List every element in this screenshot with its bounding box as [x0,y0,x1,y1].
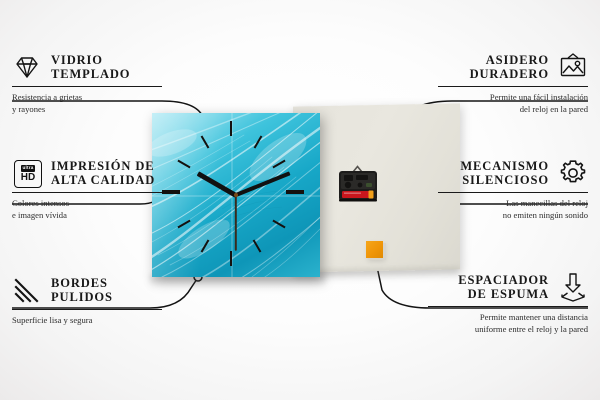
feature-desc-line1: Permite mantener una distancia [428,311,588,323]
feature-rule [438,86,588,87]
feature-desc: Permite una fácil instalación del reloj … [438,91,588,115]
feature-desc-line2: y rayones [12,103,162,115]
feature-title-line2: TEMPLADO [51,67,130,81]
clock-pivot [234,193,238,197]
feature-title-line2: ALTA CALIDAD [51,173,155,187]
feature-title-line2: SILENCIOSO [460,173,549,187]
feature-title-line2: DURADERO [470,67,549,81]
feature-desc-line1: Las manecillas del reloj [438,197,588,209]
quartz-mechanism [336,163,380,203]
feature-desc-line2: e imagen vívida [12,209,162,221]
tick-6 [230,251,232,266]
diamond-icon [12,52,42,82]
gear-icon [558,158,588,188]
feature-desc-line1: Resistencia a grietas [12,91,162,103]
feature-title-line1: MECANISMO [460,159,549,173]
feature-mecanismo-silencioso: MECANISMO SILENCIOSO Las manecillas del … [438,158,588,221]
feature-vidrio-templado: VIDRIO TEMPLADO Resistencia a grietas y … [12,52,162,115]
feature-desc-line2: del reloj en la pared [438,103,588,115]
feature-rule [12,86,162,87]
feature-desc-line2: no emiten ningún sonido [438,209,588,221]
tick-9 [162,190,180,194]
battery [342,191,372,198]
feature-desc: Las manecillas del reloj no emiten ningú… [438,197,588,221]
clock-face [152,113,320,277]
feature-desc: Colores intensos e imagen vívida [12,197,162,221]
polished-edge-lines-icon [12,275,42,305]
feature-title-line1: VIDRIO [51,53,130,67]
feature-desc: Superficie lisa y segura [12,314,162,326]
hd-badge-bottom: HD [21,173,35,183]
feature-espaciador-de-espuma: ESPACIADOR DE ESPUMA Permite mantener un… [428,272,588,335]
picture-hanger-icon [558,52,588,82]
feature-title-line2: DE ESPUMA [458,287,549,301]
hd-badge-top: ultra [21,165,36,171]
feature-desc: Permite mantener una distancia uniforme … [428,311,588,335]
infographic-canvas: VIDRIO TEMPLADO Resistencia a grietas y … [0,0,600,400]
ultra-hd-badge-icon: ultra HD [12,158,42,188]
feature-asidero-duradero: ASIDERO DURADERO Permite una fácil insta… [438,52,588,115]
feature-desc-line1: Superficie lisa y segura [12,314,162,326]
feature-rule [12,309,162,310]
feature-title-line1: IMPRESIÓN DE [51,159,155,173]
feature-desc-line1: Colores intensos [12,197,162,209]
tick-3 [286,190,304,194]
feature-desc-line2: uniforme entre el reloj y la pared [428,323,588,335]
feature-desc-line1: Permite una fácil instalación [438,91,588,103]
feature-rule [12,192,162,193]
feature-title-line1: ESPACIADOR [458,273,549,287]
feature-bordes-pulidos: BORDES PULIDOS Superficie lisa y segura [12,275,162,326]
feature-title-line2: PULIDOS [51,290,113,304]
feature-title-line1: ASIDERO [470,53,549,67]
tick-12 [230,121,232,136]
foam-spacer-sample [366,241,383,258]
feature-rule [438,192,588,193]
feature-rule [428,306,588,307]
second-hand [235,195,237,251]
foam-spacer-arrow-icon [558,272,588,302]
feature-title-line1: BORDES [51,276,113,290]
feature-desc: Resistencia a grietas y rayones [12,91,162,115]
feature-impresion-alta-calidad: ultra HD IMPRESIÓN DE ALTA CALIDAD Color… [12,158,162,221]
